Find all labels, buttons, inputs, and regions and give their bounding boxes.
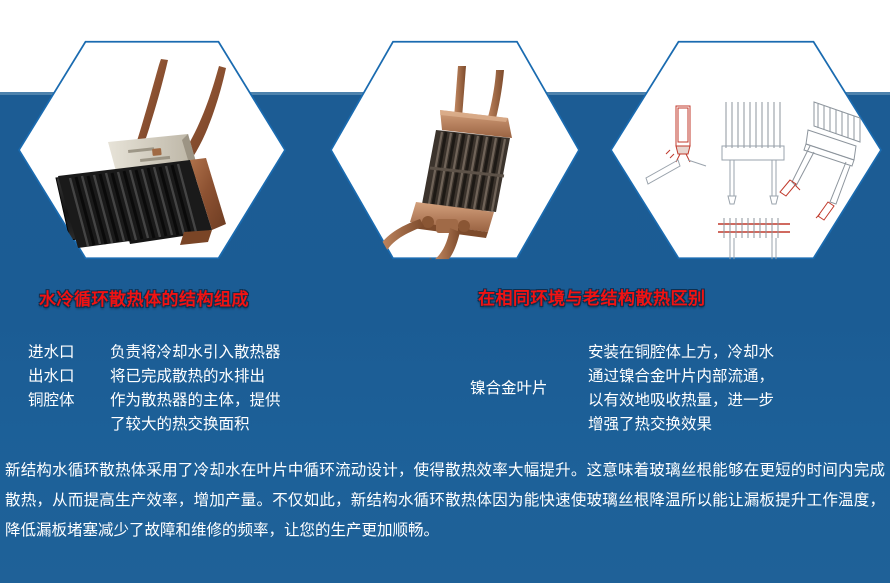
spec-definition-line: 以有效地吸收热量，进一步 [588,388,774,412]
radiator-line-drawing [610,26,882,274]
spec-definition-line: 增强了热交换效果 [588,412,774,436]
spec-definition-continuation: 了较大的热交换面积 [110,412,281,436]
spec-term: 出水口 [28,364,110,388]
spec-term: 进水口 [28,340,110,364]
spec-definition-line: 安装在铜腔体上方，冷却水 [588,340,774,364]
spec-definition: 作为散热器的主体，提供 [110,388,281,412]
spec-term: 镍合金叶片 [470,376,588,400]
hexagon-tile-3 [610,26,882,274]
left-section-title: 水冷循环散热体的结构组成 [39,285,249,310]
left-spec-list: 进水口 负责将冷却水引入散热器 出水口 将已完成散热的水排出 铜腔体 作为散热器… [28,340,281,436]
spec-definition-lines: 安装在铜腔体上方，冷却水 通过镍合金叶片内部流通， 以有效地吸收热量，进一步 增… [588,340,774,436]
spec-definition: 将已完成散热的水排出 [110,364,265,388]
right-spec-list: 镍合金叶片 安装在铜腔体上方，冷却水 通过镍合金叶片内部流通， 以有效地吸收热量… [470,340,774,436]
water-cooled-radiator-photo [18,26,286,274]
hexagon-tile-1 [18,26,286,274]
spec-definition: 负责将冷却水引入散热器 [110,340,281,364]
spec-item: 进水口 负责将冷却水引入散热器 [28,340,281,364]
spec-item: 出水口 将已完成散热的水排出 [28,364,281,388]
hexagon-tile-2 [330,26,580,274]
promo-banner: 水冷循环散热体的结构组成 在相同环境与老结构散热区别 进水口 负责将冷却水引入散… [0,0,890,583]
right-section-title: 在相同环境与老结构散热区别 [478,284,706,309]
spec-term: 铜腔体 [28,388,110,412]
copper-radiator-photo [330,26,580,274]
summary-paragraph: 新结构水循环散热体采用了冷却水在叶片中循环流动设计，使得散热效率大幅提升。这意味… [5,455,885,545]
spec-item: 铜腔体 作为散热器的主体，提供 [28,388,281,412]
spec-definition-line: 通过镍合金叶片内部流通， [588,364,774,388]
